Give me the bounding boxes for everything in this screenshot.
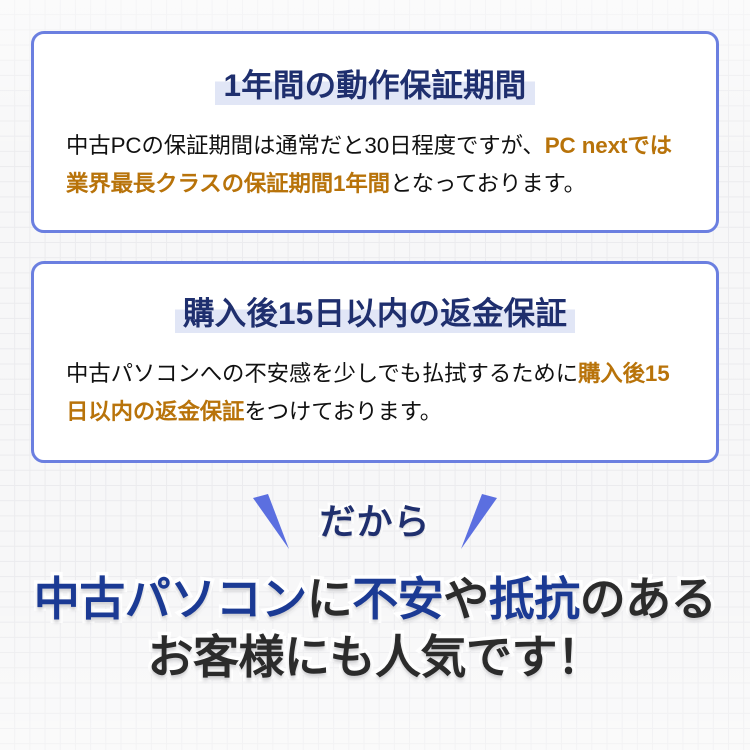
refund-card-body: 中古パソコンへの不安感を少しでも払拭するために購入後15日以内の返金保証をつけて… (34, 355, 716, 432)
headline-seg-2: に (307, 573, 353, 625)
warranty-body-line1-accent: PC next (545, 133, 628, 158)
refund-body-line1-accent: 購入 (578, 361, 623, 386)
headline-line-2: お客様にも人気です！ (0, 630, 750, 684)
refund-heading-marker: 購入後15日以内の返金保証 (175, 296, 575, 333)
refund-body-line2-normal: をつけております。 (244, 399, 442, 424)
refund-card: 購入後15日以内の返金保証 中古パソコンへの不安感を少しでも払拭するために購入後… (31, 261, 719, 463)
headline-seg-7: お客様にも人気です！ (148, 631, 603, 683)
headline-seg-4: や (443, 573, 489, 625)
closing-headline: 中古パソコンに不安や抵抗のある お客様にも人気です！ (0, 572, 750, 685)
warranty-body-line2-normal: となっております。 (390, 171, 586, 196)
warranty-heading-marker: 1年間の動作保証期間 (215, 68, 534, 105)
warranty-body-line1-normal: 中古PCの保証期間は通常だと30日程度ですが、 (66, 133, 545, 158)
page-background: 1年間の動作保証期間 中古PCの保証期間は通常だと30日程度ですが、PC nex… (0, 0, 750, 750)
warranty-card-heading: 1年間の動作保証期間 (34, 68, 716, 105)
headline-seg-5: 抵抗 (489, 573, 580, 625)
connector-label: だから (319, 504, 430, 540)
refund-body-line1-normal: 中古パソコンへの不安感を少しでも払拭するために (66, 361, 578, 386)
connector-row: だから (0, 489, 750, 555)
wedge-right-icon (457, 492, 499, 552)
wedge-left-icon (251, 492, 293, 552)
headline-seg-3: 不安 (352, 573, 443, 625)
warranty-card-body: 中古PCの保証期間は通常だと30日程度ですが、PC nextでは業界最長クラスの… (34, 127, 716, 204)
headline-seg-1: 中古パソコン (34, 573, 307, 625)
warranty-card: 1年間の動作保証期間 中古PCの保証期間は通常だと30日程度ですが、PC nex… (31, 31, 719, 233)
headline-line-1: 中古パソコンに不安や抵抗のある (0, 572, 750, 626)
headline-seg-6: のある (580, 573, 717, 625)
refund-card-heading: 購入後15日以内の返金保証 (34, 296, 716, 333)
